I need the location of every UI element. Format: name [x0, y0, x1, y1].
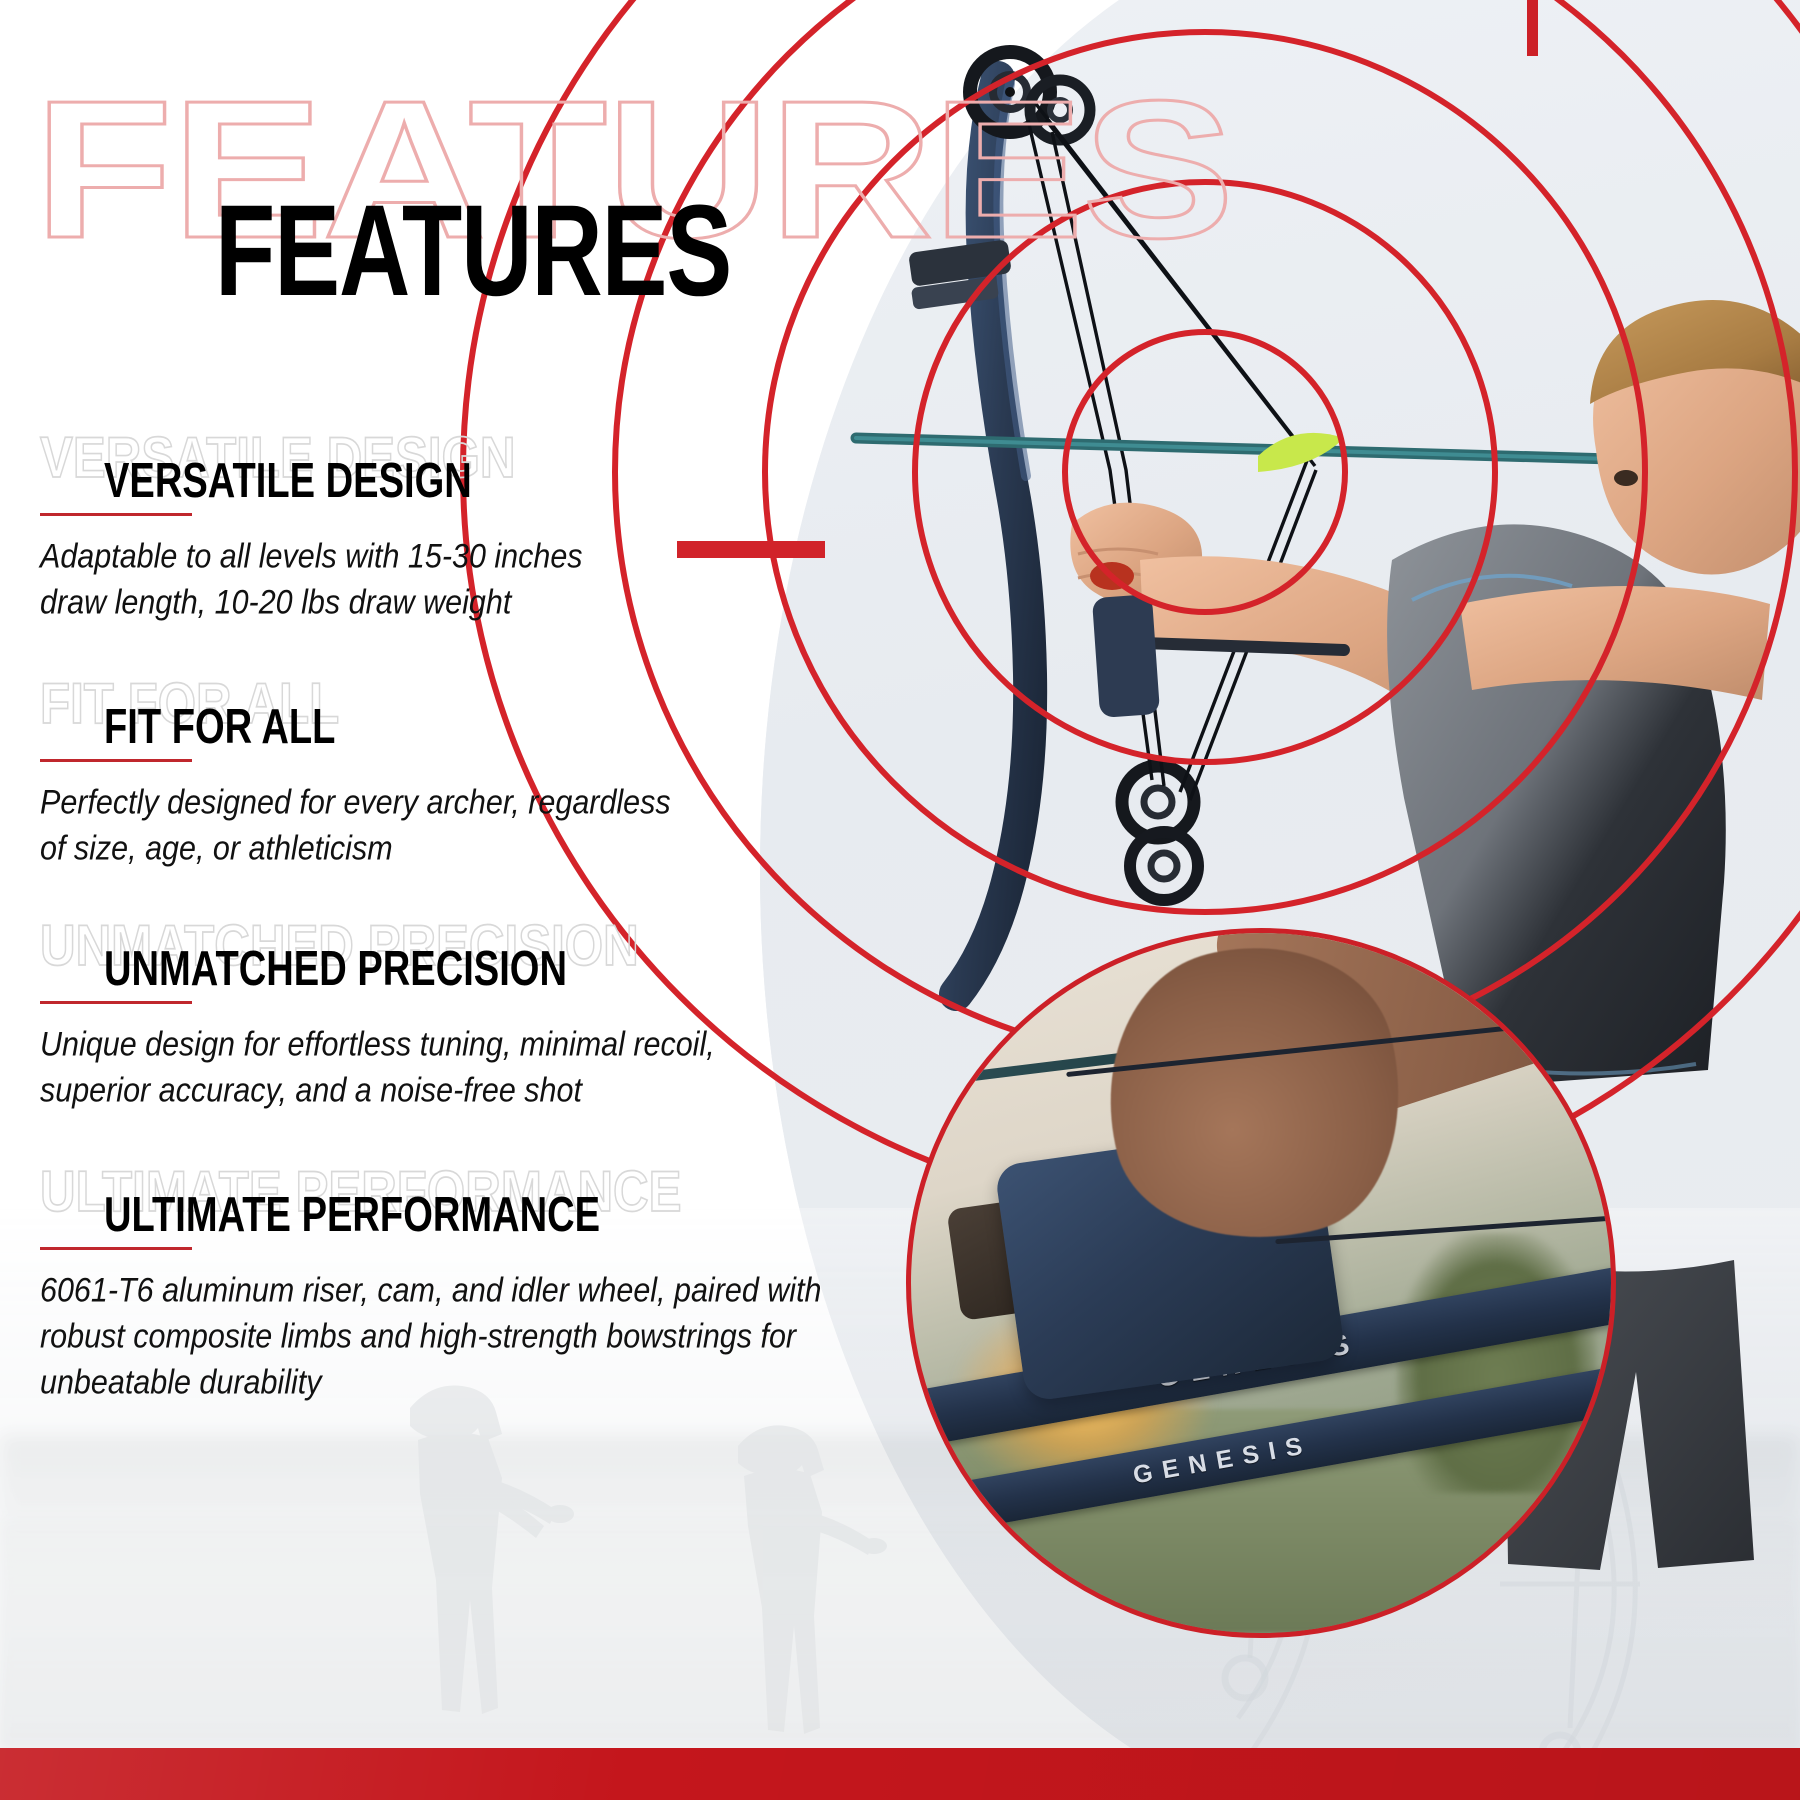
inset-tree: [1397, 1233, 1597, 1493]
bottom-accent-bar: [0, 1748, 1800, 1800]
feature-item-versatile-design: VERSATILE DESIGN VERSATILE DESIGN Adapta…: [0, 430, 900, 668]
inset-product-closeup-photo: GENESIS GENESIS: [906, 928, 1616, 1638]
feature-underline: [40, 759, 192, 762]
feature-heading: VERSATILE DESIGN: [104, 456, 472, 505]
feature-heading: UNMATCHED PRECISION: [104, 944, 567, 993]
feature-body: Unique design for effortless tuning, min…: [40, 1022, 900, 1114]
feature-infographic-page: GENESIS GENESIS FEATURES FEATURES VERSAT…: [0, 0, 1800, 1800]
feature-underline: [40, 1001, 192, 1004]
feature-item-unmatched-precision: UNMATCHED PRECISION UNMATCHED PRECISION …: [0, 918, 900, 1156]
target-tick-top-icon: [1527, 0, 1538, 56]
feature-item-ultimate-performance: ULTIMATE PERFORMANCE ULTIMATE PERFORMANC…: [0, 1164, 900, 1414]
page-title: FEATURES: [215, 186, 731, 316]
feature-heading: ULTIMATE PERFORMANCE: [104, 1190, 600, 1239]
feature-underline: [40, 513, 192, 516]
feature-underline: [40, 1247, 192, 1250]
feature-heading: FIT FOR ALL: [104, 702, 335, 751]
feature-body: Adaptable to all levels with 15-30 inche…: [40, 534, 900, 626]
feature-body: Perfectly designed for every archer, reg…: [40, 780, 900, 872]
bottom-accent-bar-sheen: [0, 1748, 1800, 1800]
feature-item-fit-for-all: FIT FOR ALL FIT FOR ALL Perfectly design…: [0, 676, 900, 910]
feature-body: 6061-T6 aluminum riser, cam, and idler w…: [40, 1268, 900, 1406]
feature-list: VERSATILE DESIGN VERSATILE DESIGN Adapta…: [0, 430, 900, 1422]
